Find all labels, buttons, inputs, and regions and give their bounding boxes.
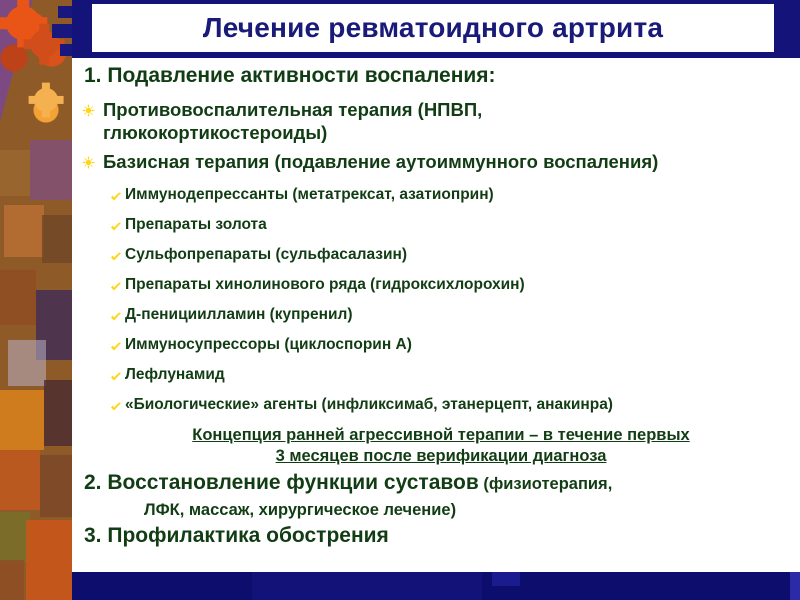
sub-bullet-text: Сульфопрепараты (сульфасалазин) [125,245,407,264]
check-bullet-icon [110,340,122,352]
sub-bullet-text: Д-пенициилламин (купренил) [125,305,353,324]
concept-line-2: 3 месяцев после верификации диагноза [276,447,607,465]
bottom-band-shade [492,572,520,586]
bottom-band-shade [252,572,482,600]
sub-bullet-item: Д-пенициилламин (купренил) [110,305,353,324]
check-bullet-icon [110,280,122,292]
bullet-text-line1: Противовоспалительная терапия (НПВП, [103,99,482,120]
concept-statement: Концепция ранней агрессивной терапии – в… [96,425,786,467]
bullet-item: Базисная терапия (подавление аутоиммунно… [82,150,792,173]
section-2-heading: 2. Восстановление функции суставов (физи… [84,470,784,523]
bullet-text: Противовоспалительная терапия (НПВП, глю… [103,98,482,144]
mosaic-tile [44,380,72,446]
mosaic-tile [8,340,46,386]
decorative-border-image [0,0,72,600]
mosaic-tile [0,560,24,600]
mosaic-tile [0,270,36,325]
check-bullet-icon [110,370,122,382]
check-bullet-icon [110,190,122,202]
sub-bullet-text: Иммунодепрессанты (метатрексат, азатиопр… [125,185,494,204]
sub-bullet-text: Препараты золота [125,215,267,234]
check-bullet-icon [110,250,122,262]
sub-bullet-item: Сульфопрепараты (сульфасалазин) [110,245,407,264]
bullet-text-line2: глюкокортикостероиды) [103,122,327,143]
section-2-heading-line2: ЛФК, массаж, хирургическое лечение) [84,497,784,523]
sun-bullet-icon [82,156,95,169]
bullet-item: Противовоспалительная терапия (НПВП, глю… [82,98,782,144]
mosaic-tile [42,215,72,263]
sub-bullet-text: «Биологические» агенты (инфликсимаб, эта… [125,395,613,414]
mosaic-tile [0,150,30,196]
section-2-heading-bold: 2. Восстановление функции суставов [84,471,479,494]
bullet-text: Базисная терапия (подавление аутоиммунно… [103,150,658,173]
sub-bullet-text: Иммуносупрессоры (циклоспорин А) [125,335,412,354]
sub-bullet-item: «Биологические» агенты (инфликсимаб, эта… [110,395,613,414]
section-3-heading: 3. Профилактика обострения [84,524,389,548]
check-bullet-icon [110,310,122,322]
border-notch [52,24,74,38]
sub-bullet-item: Иммуносупрессоры (циклоспорин А) [110,335,412,354]
sub-bullet-text: Лефлунамид [125,365,225,384]
bottom-band-shade [790,572,800,600]
sub-bullet-item: Препараты хинолинового ряда (гидроксихло… [110,275,525,294]
sub-bullet-item: Препараты золота [110,215,267,234]
section-2-heading-detail: (физиотерапия, [479,475,613,493]
mosaic-tile [30,140,72,200]
check-bullet-icon [110,220,122,232]
gear-shape-icon [34,88,58,112]
title-box: Лечение ревматоидного артрита [92,4,774,52]
mosaic-tile [0,450,40,510]
sun-bullet-icon [82,104,95,117]
concept-line-1: Концепция ранней агрессивной терапии – в… [192,426,689,444]
slide-canvas: Лечение ревматоидного артрита 1. Подавле… [0,0,800,600]
mosaic-tile [26,520,72,600]
bottom-band [72,572,800,600]
mosaic-tile [4,205,44,257]
sub-bullet-text: Препараты хинолинового ряда (гидроксихло… [125,275,525,294]
sub-bullet-item: Лефлунамид [110,365,225,384]
slide-body: 1. Подавление активности воспаления: [72,58,800,572]
mosaic-tile [40,455,72,517]
check-bullet-icon [110,400,122,412]
sub-bullet-item: Иммунодепрессанты (метатрексат, азатиопр… [110,185,494,204]
mosaic-tile [0,390,44,450]
section-1-heading: 1. Подавление активности воспаления: [84,64,496,88]
page-title: Лечение ревматоидного артрита [203,12,663,44]
